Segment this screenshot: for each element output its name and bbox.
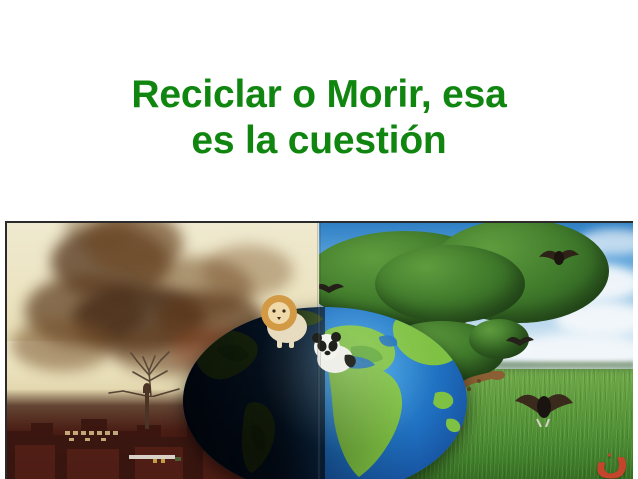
bird-icon-3 <box>319 277 345 299</box>
eagle-icon <box>537 241 581 271</box>
split-world-illustration: ن <box>7 223 633 479</box>
street-light-streak <box>129 455 175 459</box>
arabic-watermark: ن <box>595 439 629 479</box>
title-line-2: es la cuestión <box>0 118 638 164</box>
minaret-silhouette <box>145 391 149 429</box>
page-title: Reciclar o Morir, esa es la cuestión <box>0 72 638 164</box>
bird-icon-2 <box>505 331 535 351</box>
slide-image-frame: ن <box>5 221 633 479</box>
eagle-icon-2 <box>513 383 575 427</box>
title-line-1: Reciclar o Morir, esa <box>0 72 638 118</box>
panda-icon <box>305 329 361 375</box>
presentation-slide: Reciclar o Morir, esa es la cuestión <box>0 0 638 479</box>
